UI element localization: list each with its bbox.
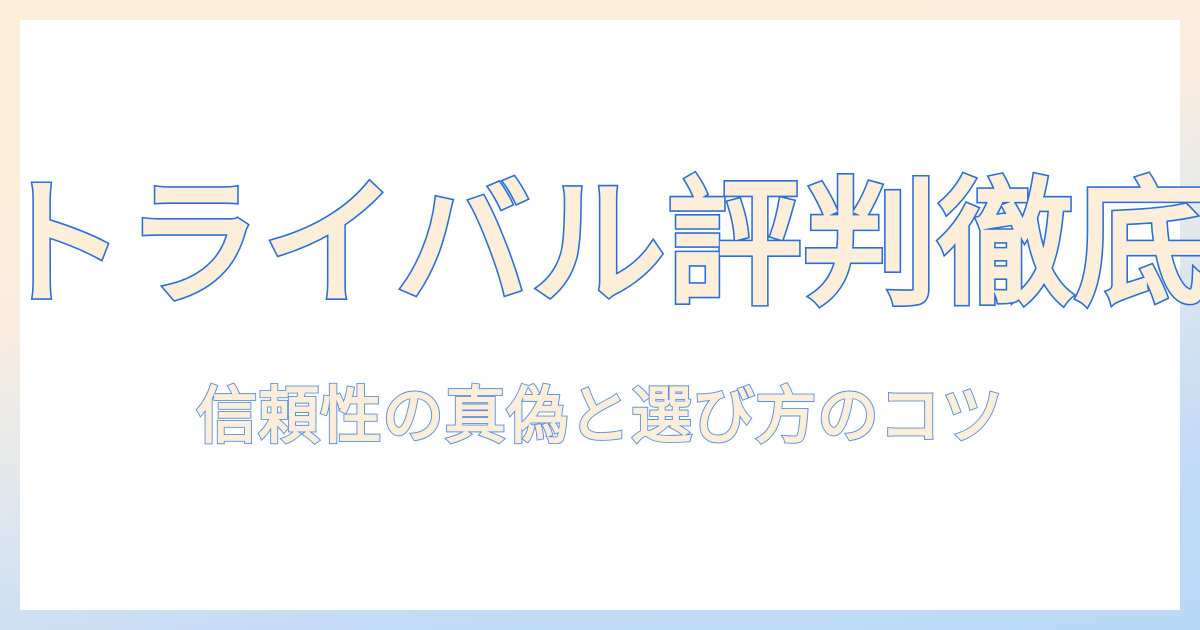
- banner-title: トライバル評判徹底: [0, 172, 1200, 318]
- text-stack: トライバル評判徹底 信頼性の真偽と選び方のコツ: [20, 172, 1180, 450]
- content-card: トライバル評判徹底 信頼性の真偽と選び方のコツ: [20, 20, 1180, 610]
- banner-frame: トライバル評判徹底 信頼性の真偽と選び方のコツ: [0, 0, 1200, 630]
- banner-subtitle: 信頼性の真偽と選び方のコツ: [196, 382, 1004, 450]
